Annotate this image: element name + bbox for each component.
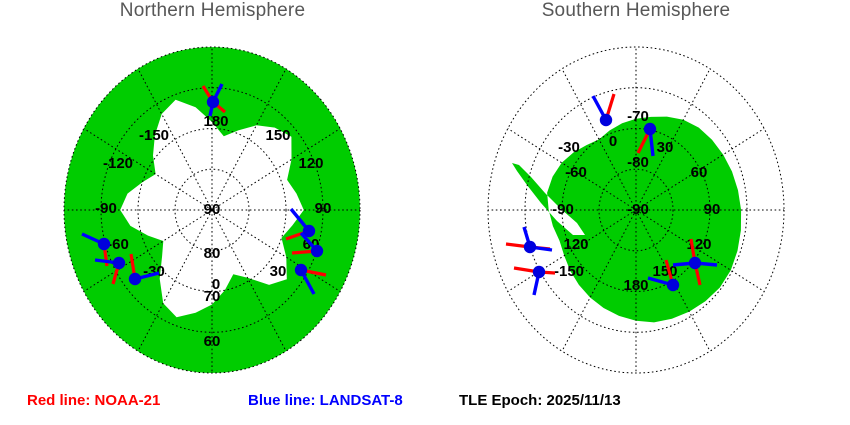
grid-label: 120 [298, 155, 323, 172]
grid-label: -150 [139, 127, 169, 144]
grid-label: 60 [204, 333, 221, 350]
grid-label: 150 [265, 127, 290, 144]
grid-label: -60 [625, 45, 647, 47]
south-panel-title: Southern Hemisphere [465, 0, 807, 22]
southern-hemisphere-plot: -60-70-80-90030-3060-6090-90120120150-15… [465, 45, 807, 383]
northern-hemisphere-plot: 180-150150-120120-9090-6060-303009080706… [41, 45, 384, 383]
legend: Red line: NOAA-21 Blue line: LANDSAT-8 T… [0, 392, 850, 420]
grid-label: -90 [552, 201, 574, 218]
south-map-canvas: -60-70-80-90030-3060-6090-90120120150-15… [465, 45, 807, 383]
legend-noaa21: Red line: NOAA-21 [27, 392, 160, 409]
screenshot-root: Northern Hemisphere Southern Hemisphere … [0, 0, 850, 425]
grid-label: -80 [627, 154, 649, 171]
grid-label: 90 [204, 201, 221, 218]
grid-label: -60 [565, 164, 587, 181]
grid-label: -90 [627, 201, 649, 218]
grid-label: 120 [563, 236, 588, 253]
grid-label: 30 [270, 263, 287, 280]
grid-label: -90 [95, 200, 117, 217]
grid-label: -120 [103, 155, 133, 172]
grid-label: -30 [558, 139, 580, 156]
grid-label: -70 [627, 108, 649, 125]
grid-label: 180 [623, 277, 648, 294]
north-panel-title: Northern Hemisphere [41, 0, 384, 22]
grid-label: 80 [204, 245, 221, 262]
legend-landsat8: Blue line: LANDSAT-8 [248, 392, 403, 409]
grid-label: 0 [609, 133, 617, 150]
grid-label: 60 [691, 164, 708, 181]
legend-tle-epoch: TLE Epoch: 2025/11/13 [459, 392, 621, 409]
grid-label: 180 [203, 113, 228, 130]
grid-label: -150 [554, 263, 584, 280]
north-map-canvas: 180-150150-120120-9090-6060-303009080706… [41, 45, 384, 383]
grid-label: 120 [686, 236, 711, 253]
grid-label: 70 [204, 288, 221, 305]
grid-label: 30 [657, 139, 674, 156]
grid-label: 90 [704, 201, 721, 218]
grid-label: 90 [315, 200, 332, 217]
grid-label: -60 [107, 236, 129, 253]
